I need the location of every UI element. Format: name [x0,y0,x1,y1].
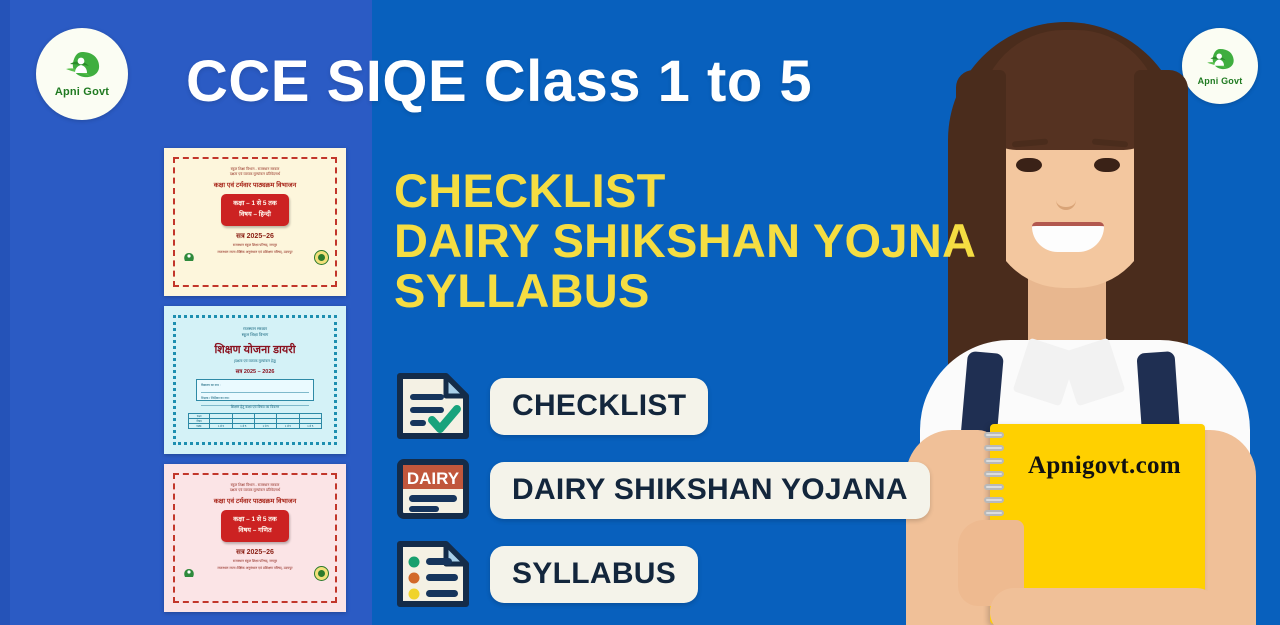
headline-group: CHECKLIST DAIRY SHIKSHAN YOJNA SYLLABUS [394,166,976,315]
dairy-document-icon: DAIRY [396,456,470,524]
feature-row-syllabus[interactable]: SYLLABUS [396,540,930,608]
cert-session-year: सत्र 2025–26 [236,232,274,241]
cell: 1 से 5 [299,423,321,428]
syllabus-list-icon [396,540,470,608]
nose [1056,188,1076,210]
dairy-shikshan-yojana-button[interactable]: DAIRY SHIKSHAN YOJANA [490,462,930,519]
thumbnail-certificate-maths[interactable]: स्कूल शिक्षा विभाग - राजस्थान सरकार दक्ष… [164,464,346,612]
cert-badge-class: कक्षा – 1 से 5 तक [233,515,277,526]
cert-dept-line2: दक्षता एवं व्यापक मूल्यांकन प्रतिवेदनार्… [230,488,280,493]
cell: 1 से 5 [210,423,232,428]
diary-form-rule [201,392,309,393]
council-logo-icon [181,567,201,579]
cell: 1 से 5 [277,423,299,428]
page-title: CCE SIQE Class 1 to 5 [186,48,812,115]
diary-table: कक्षा विषय [188,413,322,429]
diary-title: शिक्षण योजना डायरी [214,342,295,357]
state-emblem-icon [314,566,329,581]
headline-checklist: CHECKLIST [394,166,976,216]
cert-subject-badge: कक्षा – 1 से 5 तक विषय – गणित [221,510,289,542]
cert-badge-subject: विषय – गणित [233,526,277,537]
diary-table-caption: शिक्षण हेतु कक्षा एवं विषय का विवरण [231,405,280,410]
checklist-document-icon [396,372,470,440]
feature-row-checklist[interactable]: CHECKLIST [396,372,930,440]
cell: पाठ्य. [189,423,210,428]
cell: 1 से 5 [232,423,254,428]
diary-session-year: सत्र 2025 – 2026 [236,367,275,375]
cert-heading: कक्षा एवं टर्मवार पाठ्यक्रम विभाजन [214,180,296,189]
thumbnail-certificate-hindi[interactable]: स्कूल शिक्षा विभाग - राजस्थान सरकार दक्ष… [164,148,346,296]
feature-list: CHECKLIST DAIRY DAIRY SHIKSHAN YOJANA [396,372,930,624]
cert-foot-line2: राजस्थान राज्य शैक्षिक अनुसंधान एवं प्रश… [217,250,292,255]
forearm [990,588,1220,625]
state-emblem-icon [314,250,329,265]
council-logo-icon [181,251,201,263]
cert-foot-line1: राजस्थान स्कूल शिक्षा परिषद्, जयपुर [233,243,277,248]
checklist-button[interactable]: CHECKLIST [490,378,708,435]
syllabus-button[interactable]: SYLLABUS [490,546,698,603]
table-row: पाठ्य. 1 से 5 1 से 5 1 से 5 1 से 5 1 से … [189,423,322,428]
headline-dairy-shikshan-yojna: DAIRY SHIKSHAN YOJNA [394,216,976,266]
cert-dept-line2: दक्षता एवं व्यापक मूल्यांकन प्रतिवेदनार्… [230,172,280,177]
diary-form-label2: शिक्षक / शिक्षिका का नाम : [201,396,309,400]
promo-banner: Apni Govt Apni Govt [0,0,1280,625]
diary-subtitle: (दक्षता एवं व्यापक मूल्यांकन हेतु) [234,359,276,364]
apni-govt-leaf-icon [62,50,102,84]
cert-badge-subject: विषय – हिन्दी [233,210,277,221]
diary-form-block: विद्यालय का नाम : शिक्षक / शिक्षिका का न… [196,379,314,401]
eye-right [1094,158,1120,172]
feature-row-dairy[interactable]: DAIRY DAIRY SHIKSHAN YOJANA [396,456,930,524]
eye-left [1016,158,1042,172]
cell: 1 से 5 [255,423,277,428]
headline-syllabus: SYLLABUS [394,266,976,316]
cert-foot-line2: राजस्थान राज्य शैक्षिक अनुसंधान एवं प्रश… [217,566,292,571]
svg-text:DAIRY: DAIRY [407,469,460,488]
thumbnail-list: स्कूल शिक्षा विभाग - राजस्थान सरकार दक्ष… [164,148,346,622]
cert-subject-badge: कक्षा – 1 से 5 तक विषय – हिन्दी [221,194,289,226]
logo-badge-left: Apni Govt [36,28,128,120]
cert-badge-class: कक्षा – 1 से 5 तक [233,199,277,210]
cert-heading: कक्षा एवं टर्मवार पाठ्यक्रम विभाजन [214,496,296,505]
thumbnail-certificate-diary[interactable]: राजस्थान सरकार स्कूल शिक्षा विभाग शिक्षण… [164,306,346,454]
background-edge-strip [0,0,10,625]
cert-session-year: सत्र 2025–26 [236,548,274,557]
logo-text: Apni Govt [55,87,109,98]
cert-foot-line1: राजस्थान स्कूल शिक्षा परिषद्, जयपुर [233,559,277,564]
diary-form-label1: विद्यालय का नाम : [201,383,309,387]
diary-top-line2: स्कूल शिक्षा विभाग [242,332,269,338]
notebook-brand-text: Apnigovt.com [1028,452,1181,480]
